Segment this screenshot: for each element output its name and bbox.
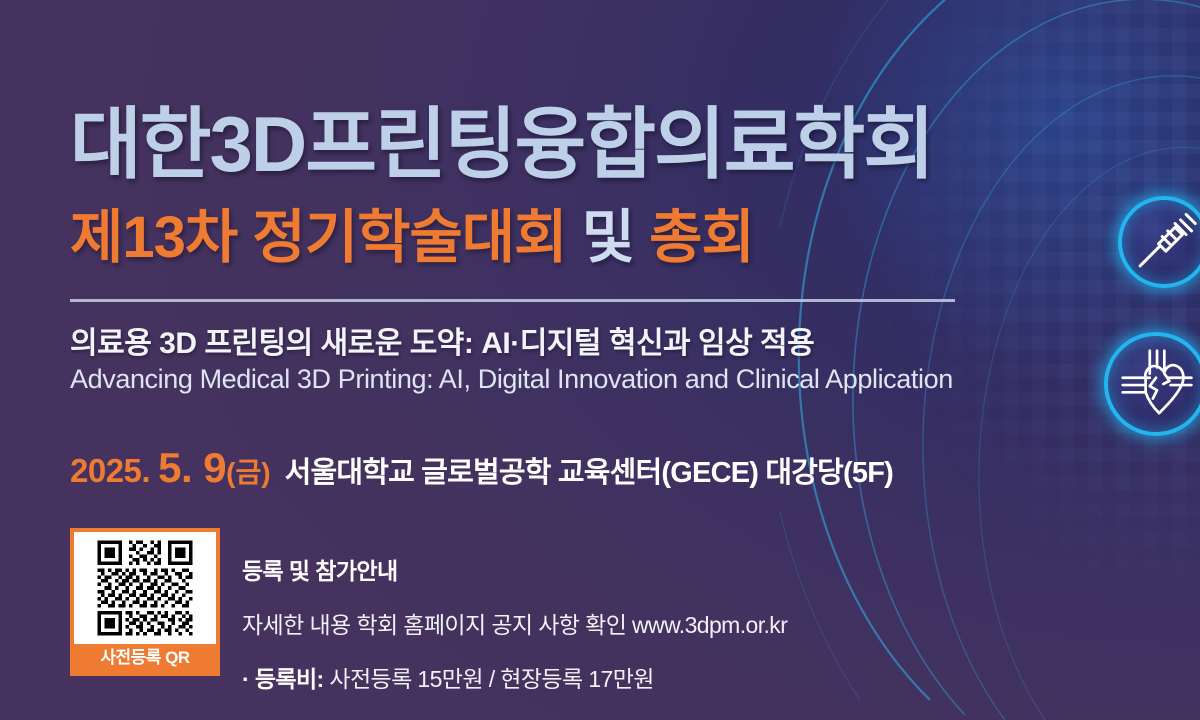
theme-korean: 의료용 3D 프린팅의 새로운 도약: AI·디지털 혁신과 임상 적용 [70, 318, 814, 362]
registration-heading: 등록 및 참가안내 [242, 552, 787, 586]
fee-label: · 등록비: [242, 666, 324, 692]
syringe-glyph [1118, 196, 1200, 288]
divider-line [70, 299, 955, 302]
qr-caption: 사전등록 QR [74, 644, 216, 672]
heart-circuit-glyph [1104, 332, 1200, 436]
theme-english: Advancing Medical 3D Printing: AI, Digit… [70, 364, 953, 395]
registration-fee-line: · 등록비: 사전등록 15만원 / 현장등록 17만원 [242, 660, 787, 694]
qr-code-icon[interactable] [74, 532, 216, 644]
date-month-day: 5. 9 [158, 444, 226, 492]
date-year: 2025. [70, 452, 150, 490]
syringe-icon [1118, 196, 1200, 288]
event-title-part-2: 총회 [649, 205, 754, 270]
date-and-venue: 2025. 5. 9 (금) 서울대학교 글로벌공학 교육센터(GECE) 대강… [70, 444, 893, 492]
venue-name: 서울대학교 글로벌공학 교육센터(GECE) 대강당(5F) [285, 449, 893, 491]
society-name-title: 대한3D프린팅융합의료학회 [70, 82, 933, 194]
event-title: 제13차 정기학술대회 및 총회 [70, 190, 754, 274]
event-title-part-1: 제13차 정기학술대회 [70, 205, 567, 270]
qr-registration-block[interactable]: 사전등록 QR [70, 528, 220, 676]
registration-website-line: 자세한 내용 학회 홈페이지 공지 사항 확인 www.3dpm.or.kr [242, 606, 787, 640]
date-weekday: (금) [226, 451, 270, 491]
registration-info: 등록 및 참가안내 자세한 내용 학회 홈페이지 공지 사항 확인 www.3d… [242, 552, 787, 694]
event-title-conjunction: 및 [582, 205, 634, 270]
fee-detail: 사전등록 15만원 / 현장등록 17만원 [329, 666, 653, 692]
conference-poster: 대한3D프린팅융합의료학회 제13차 정기학술대회 및 총회 의료용 3D 프린… [0, 0, 1200, 720]
heart-circuit-icon [1104, 332, 1200, 436]
